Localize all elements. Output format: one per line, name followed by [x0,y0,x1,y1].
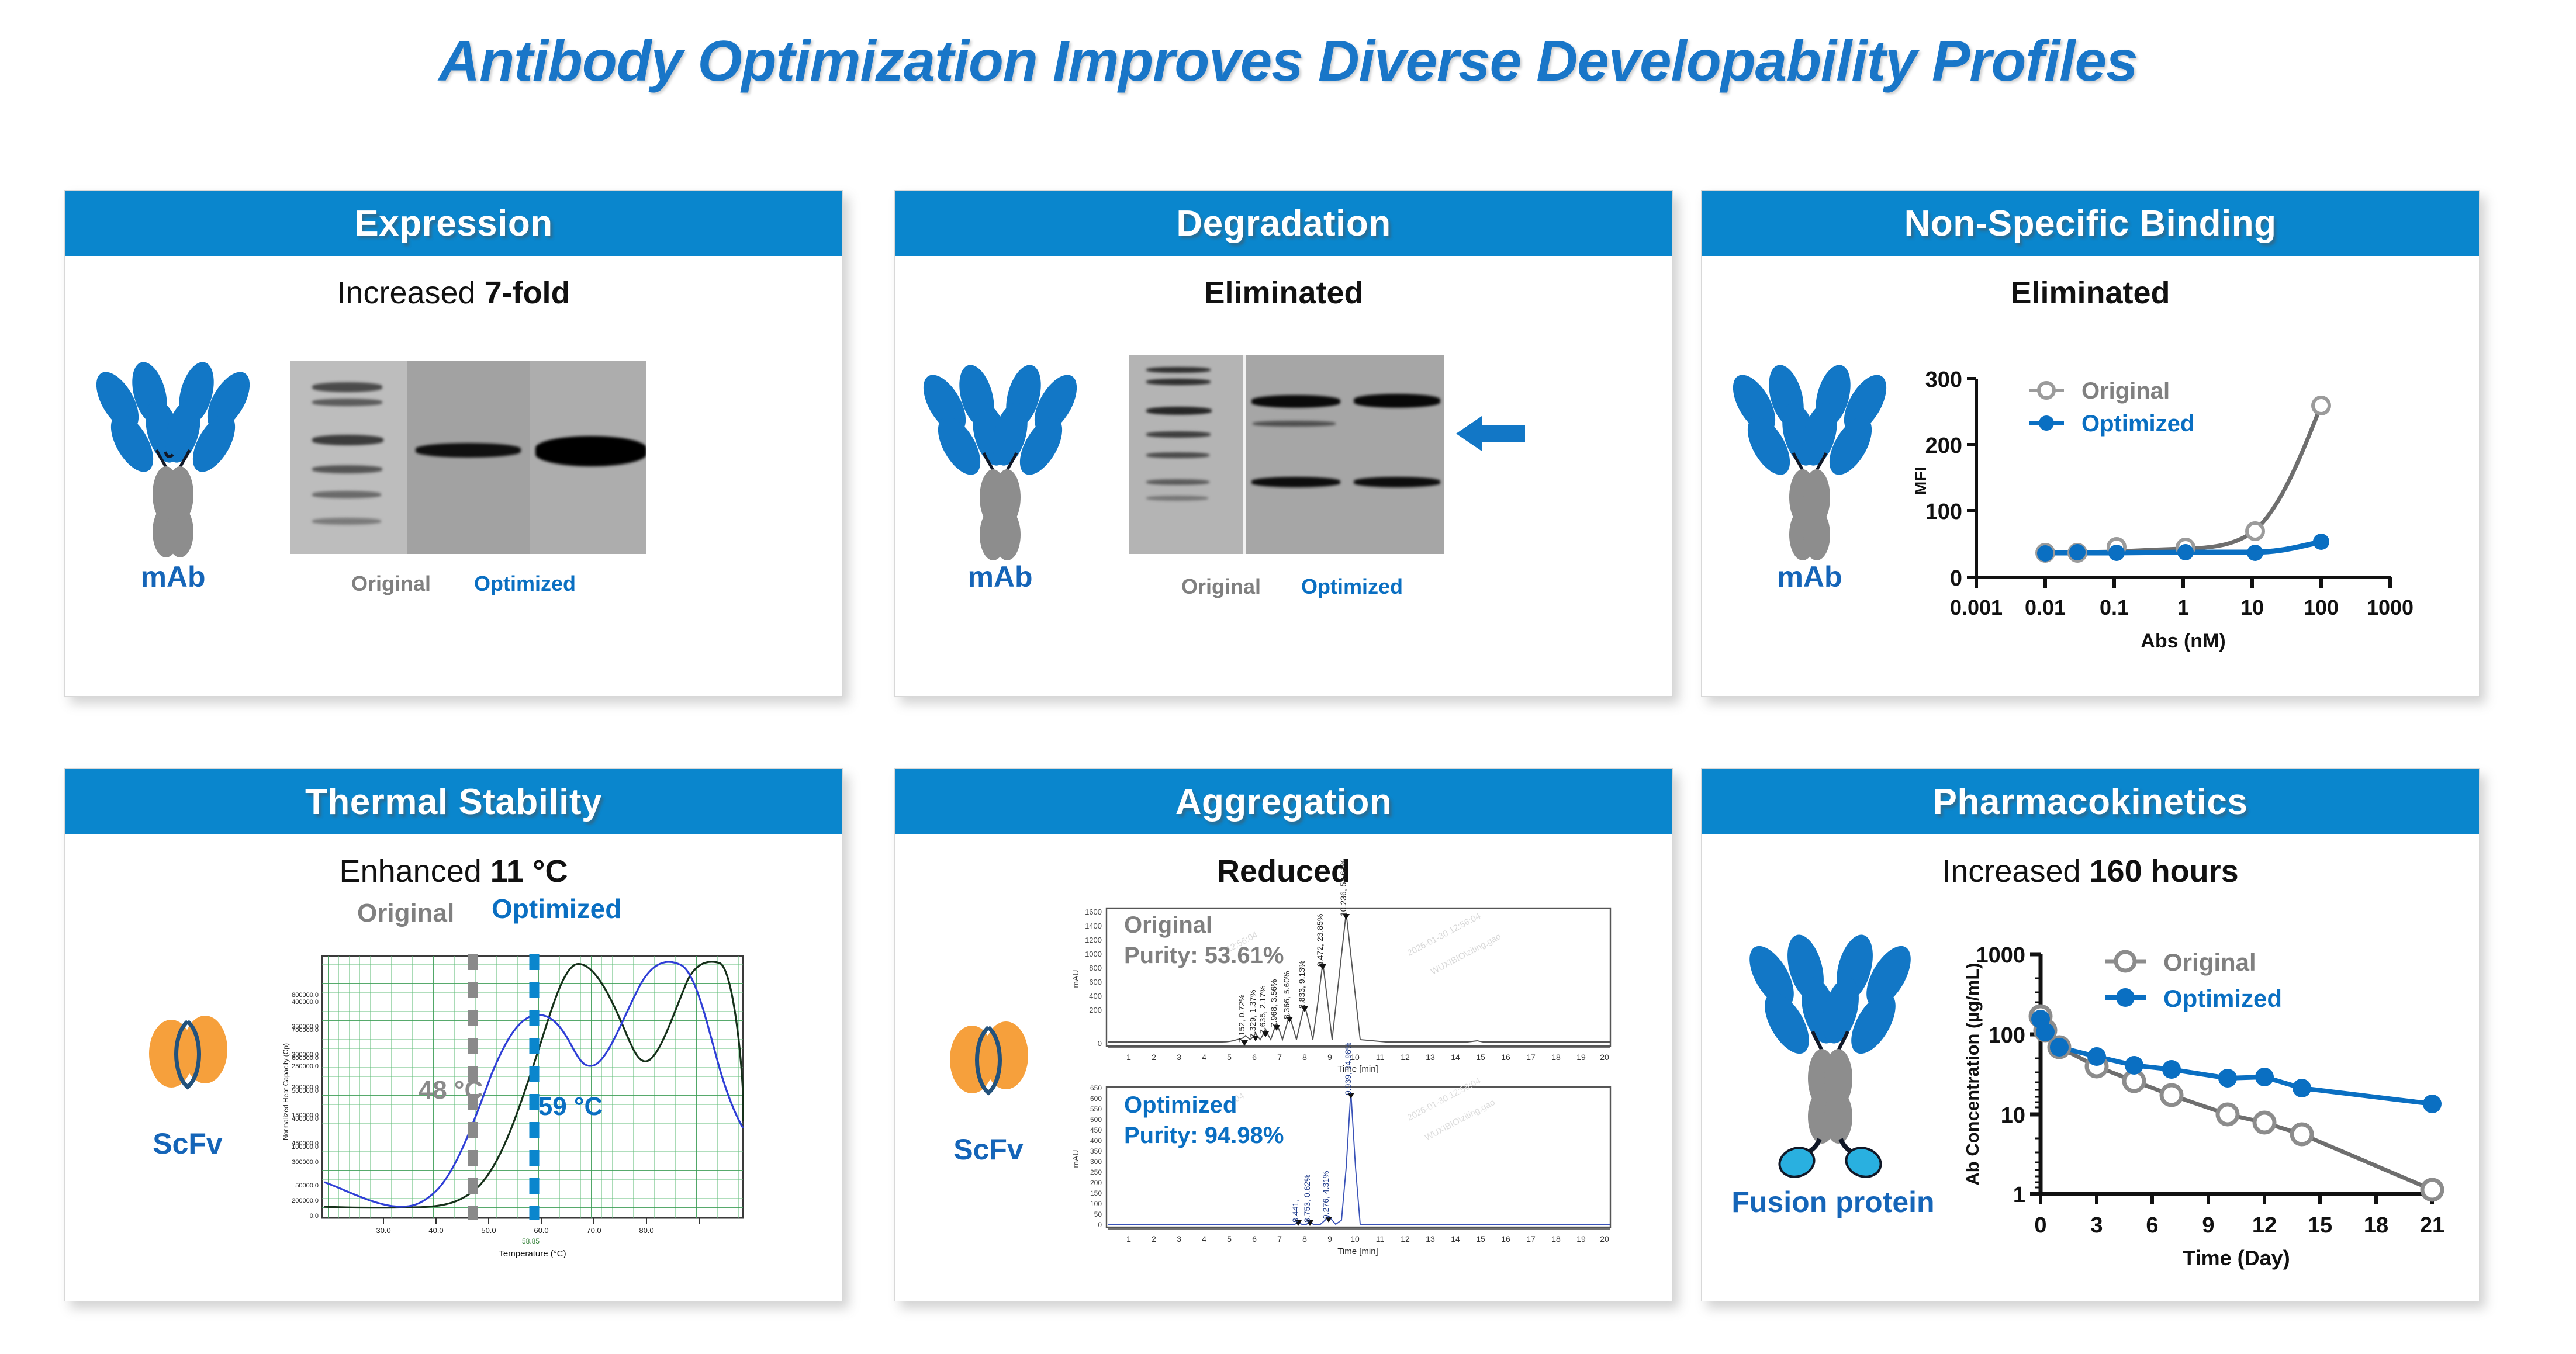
panel-thermal-stability[interactable]: Thermal Stability Enhanced 11 °C ScFv Or… [64,768,843,1301]
svg-text:300000.0: 300000.0 [292,1159,319,1166]
svg-text:0: 0 [2034,1213,2046,1238]
degradation-gel-image [1129,355,1444,554]
svg-text:150000.0: 150000.0 [292,1112,319,1119]
svg-text:0: 0 [1950,566,1962,591]
svg-text:9.939, 94.98%: 9.939, 94.98% [1343,1043,1353,1095]
panel-header-label: Expression [354,203,552,244]
svg-text:650: 650 [1090,1084,1102,1092]
svg-text:Optimized: Optimized [2163,985,2282,1012]
panel-expression[interactable]: Expression Increased 7-fold [64,190,843,697]
svg-text:12: 12 [1401,1052,1410,1062]
svg-text:50.0: 50.0 [481,1226,496,1235]
fusion-protein-icon [1731,931,1930,1182]
svg-text:400000.0: 400000.0 [292,999,319,1006]
chart-legend: Original Optimized [2105,948,2282,1012]
svg-text:100: 100 [2304,595,2339,619]
subtitle-value: Eliminated [2010,275,2170,310]
svg-text:6: 6 [1252,1234,1257,1244]
svg-text:100: 100 [1090,1200,1102,1208]
svg-text:350000.0: 350000.0 [292,1023,319,1030]
svg-text:Temperature (°C): Temperature (°C) [499,1249,566,1259]
svg-text:200: 200 [1090,1179,1102,1187]
svg-text:100: 100 [1989,1023,2025,1048]
svg-text:200000.0: 200000.0 [292,1197,319,1204]
svg-text:1400: 1400 [1085,922,1102,930]
lane-label-optimized: Optimized [1301,574,1403,599]
panel-body: Eliminated [1702,256,2479,696]
svg-text:13: 13 [1426,1052,1435,1062]
svg-text:40.0: 40.0 [428,1226,443,1235]
svg-text:500: 500 [1090,1116,1102,1124]
svg-text:7.152, 0.72%: 7.152, 0.72% [1237,994,1246,1043]
svg-text:12: 12 [1401,1234,1410,1244]
sec-original-title: Original [1124,912,1212,938]
svg-text:8.833, 9.13%: 8.833, 9.13% [1297,960,1306,1009]
panel-subtitle: Eliminated [1702,275,2479,311]
svg-text:3: 3 [1177,1234,1181,1244]
panel-aggregation[interactable]: Aggregation Reduced ScFv 16001400 120010… [894,768,1673,1301]
svg-text:0: 0 [1098,1221,1102,1229]
svg-text:10.236, 53.61%: 10.236, 53.61% [1339,859,1348,916]
svg-text:13: 13 [1426,1234,1435,1244]
svg-text:16: 16 [1501,1052,1510,1062]
svg-text:250000.0: 250000.0 [292,1063,319,1070]
svg-text:1: 1 [1126,1052,1131,1062]
panel-non-specific-binding[interactable]: Non-Specific Binding Eliminated [1701,190,2480,697]
svg-text:1600: 1600 [1085,908,1102,916]
poster-page: Antibody Optimization Improves Diverse D… [0,0,2576,1354]
svg-text:Ab Concentration (µg/mL): Ab Concentration (µg/mL) [1962,962,1983,1185]
svg-text:19: 19 [1576,1234,1586,1244]
svg-text:3: 3 [1177,1052,1181,1062]
panel-header: Aggregation [895,769,1672,834]
svg-text:50: 50 [1094,1210,1102,1218]
svg-text:10: 10 [2240,595,2264,619]
svg-text:3: 3 [2090,1213,2103,1238]
svg-text:1: 1 [1126,1234,1131,1244]
svg-text:0.0: 0.0 [310,1213,319,1220]
marker-label-optimized: Optimized [492,893,621,924]
panel-body: Eliminated [895,256,1672,696]
svg-text:7.635, 2.17%: 7.635, 2.17% [1258,985,1267,1034]
svg-text:Time [min]: Time [min] [1337,1246,1378,1256]
svg-text:0.01: 0.01 [2025,595,2066,619]
svg-text:0: 0 [1098,1039,1102,1048]
panel-header-label: Non-Specific Binding [1904,203,2277,244]
svg-text:18: 18 [1551,1234,1561,1244]
svg-text:5: 5 [1227,1052,1232,1062]
molecule-label-fusion-protein: Fusion protein [1707,1185,1959,1219]
sec-original-chart: 16001400 12001000 800600 400200 0 mAU 12… [1059,900,1620,1075]
panel-body: Reduced ScFv 16001400 12001000 800600 40… [895,834,1672,1301]
panel-subtitle: Increased 7-fold [65,275,842,311]
antibody-icon [85,361,261,554]
svg-text:Abs (nM): Abs (nM) [2141,630,2225,652]
svg-text:10: 10 [2001,1103,2025,1128]
svg-text:mAU: mAU [1071,969,1080,988]
sec-original-subtitle: Purity: 53.61% [1124,943,1284,968]
panel-header: Pharmacokinetics [1702,769,2479,834]
panel-subtitle: Enhanced 11 °C [65,853,842,889]
panel-body: Increased 7-fold [65,256,842,696]
svg-text:30.0: 30.0 [376,1226,390,1235]
subtitle-value: 11 °C [490,854,568,889]
svg-text:800000.0: 800000.0 [292,992,319,999]
marker-label-original: Original [357,899,454,928]
svg-text:18: 18 [2364,1213,2388,1238]
svg-text:600: 600 [1089,978,1102,986]
panel-header: Degradation [895,191,1672,256]
svg-text:150: 150 [1090,1189,1102,1197]
svg-text:4: 4 [1202,1234,1206,1244]
svg-text:17: 17 [1526,1052,1536,1062]
svg-text:600: 600 [1090,1095,1102,1103]
lane-label-optimized: Optimized [474,572,576,596]
svg-text:200: 200 [1089,1006,1102,1014]
svg-text:2: 2 [1152,1234,1156,1244]
svg-text:11: 11 [1376,1234,1385,1244]
dsc-thermogram: 0.0 200000.0 50000.0 300000.0 100000.0 4… [275,946,766,1273]
svg-text:Original: Original [2163,948,2256,976]
subtitle-value: Eliminated [1204,275,1363,310]
svg-text:16: 16 [1501,1234,1510,1244]
svg-text:100: 100 [1925,500,1962,524]
sec-optimized-subtitle: Purity: 94.98% [1124,1123,1284,1148]
svg-text:1: 1 [2177,595,2189,619]
svg-text:9: 9 [2202,1213,2214,1238]
svg-text:14: 14 [1451,1234,1460,1244]
svg-text:8.366, 5.60%: 8.366, 5.60% [1282,971,1291,1019]
sec-optimized-chart: 650600550 500450400 350300250 200150100 … [1059,1080,1620,1261]
subtitle-prefix: Enhanced [340,854,490,889]
svg-text:200000.0: 200000.0 [292,1084,319,1091]
antibody-icon [1722,364,1897,557]
svg-text:800: 800 [1089,964,1102,972]
dsc-tick-annotation: 58.85 [522,1237,540,1245]
svg-text:9.276, 4.31%: 9.276, 4.31% [1321,1171,1330,1219]
svg-text:350: 350 [1090,1147,1102,1155]
svg-text:300000.0: 300000.0 [292,1051,319,1058]
panel-body: Enhanced 11 °C ScFv Original Optimized [65,834,842,1301]
molecule-label-mab: mAb [1722,560,1897,594]
lane-label-original: Original [1181,574,1261,599]
subtitle-value: Reduced [1217,854,1350,889]
svg-text:20: 20 [1600,1234,1609,1244]
svg-text:0.001: 0.001 [1950,595,2003,619]
subtitle-value: 7-fold [485,275,570,310]
svg-text:20: 20 [1600,1052,1609,1062]
svg-text:400: 400 [1090,1137,1102,1145]
svg-text:7: 7 [1277,1052,1282,1062]
svg-text:8: 8 [1302,1234,1307,1244]
svg-text:8: 8 [1302,1052,1307,1062]
svg-text:300: 300 [1925,368,1962,392]
svg-text:300: 300 [1090,1158,1102,1166]
svg-text:250: 250 [1090,1168,1102,1176]
svg-text:7.968, 3.56%: 7.968, 3.56% [1269,979,1278,1027]
left-arrow-icon [1456,413,1526,455]
svg-text:1: 1 [2013,1183,2025,1207]
svg-text:11: 11 [1376,1052,1385,1062]
panel-grid: Expression Increased 7-fold [0,0,2576,1354]
panel-header-label: Pharmacokinetics [1933,781,2248,823]
panel-header: Expression [65,191,842,256]
scfv-icon [930,992,1047,1121]
svg-text:50000.0: 50000.0 [295,1182,319,1189]
svg-text:Normalized Heat Capacity (Cp): Normalized Heat Capacity (Cp) [282,1043,290,1140]
subtitle-prefix: Increased [337,275,484,310]
panel-header-label: Degradation [1176,203,1391,244]
svg-text:6: 6 [2146,1213,2158,1238]
svg-text:1200: 1200 [1085,936,1102,944]
molecule-label-scfv: ScFv [901,1133,1076,1166]
svg-text:12: 12 [2252,1213,2277,1238]
svg-text:80.0: 80.0 [639,1226,653,1235]
svg-text:450000.0: 450000.0 [292,1140,319,1147]
panel-subtitle: Eliminated [895,275,1672,311]
antibody-icon [912,364,1088,557]
svg-text:550: 550 [1090,1105,1102,1113]
panel-header: Thermal Stability [65,769,842,834]
svg-text:9.472, 23.85%: 9.472, 23.85% [1315,914,1325,967]
svg-text:14: 14 [1451,1052,1460,1062]
svg-text:9: 9 [1327,1052,1332,1062]
subtitle-prefix: Increased [1942,854,2089,889]
svg-text:4: 4 [1202,1052,1206,1062]
panel-body: Increased 160 hours [1702,834,2479,1301]
svg-text:Optimized: Optimized [2081,411,2194,437]
lane-label-original: Original [351,572,431,596]
chart-legend: Original Optimized [2029,378,2194,437]
svg-text:15: 15 [1476,1234,1485,1244]
panel-subtitle: Increased 160 hours [1702,853,2479,889]
svg-text:Original: Original [2081,378,2170,404]
svg-text:1000: 1000 [2367,595,2414,619]
svg-text:17: 17 [1526,1234,1536,1244]
nsb-chart: 300 200 100 0 MFI [1906,355,2432,659]
svg-text:7.329, 1.37%: 7.329, 1.37% [1248,989,1257,1038]
panel-header-label: Aggregation [1175,781,1392,823]
panel-subtitle: Reduced [895,853,1672,889]
molecule-label-scfv: ScFv [100,1127,275,1161]
svg-text:18: 18 [1551,1052,1561,1062]
panel-header: Non-Specific Binding [1702,191,2479,256]
svg-text:1000: 1000 [1085,950,1102,958]
sec-optimized-title: Optimized [1124,1092,1237,1118]
marker-value-optimized: 59 °C [538,1092,603,1121]
svg-text:15: 15 [1476,1052,1485,1062]
molecule-label-mab: mAb [85,560,261,594]
svg-text:400: 400 [1089,992,1102,1000]
svg-text:1000: 1000 [1976,943,2025,968]
svg-text:10: 10 [1350,1234,1360,1244]
svg-text:450: 450 [1090,1126,1102,1134]
svg-text:200: 200 [1925,434,1962,458]
svg-text:9: 9 [1327,1234,1332,1244]
svg-text:19: 19 [1576,1052,1586,1062]
molecule-label-mab: mAb [912,560,1088,594]
svg-text:15: 15 [2308,1213,2332,1238]
svg-text:70.0: 70.0 [586,1226,601,1235]
marker-value-original: 48 °C [419,1076,483,1104]
scfv-icon [129,986,246,1115]
panel-degradation[interactable]: Degradation Eliminated [894,190,1673,697]
pk-chart: 1000 100 10 1 Ab Concentration (µg/mL) [1953,937,2467,1276]
panel-header-label: Thermal Stability [305,781,602,823]
svg-text:5: 5 [1227,1234,1232,1244]
svg-text:6: 6 [1252,1052,1257,1062]
svg-text:21: 21 [2420,1213,2444,1238]
svg-text:Time (Day): Time (Day) [2183,1246,2290,1270]
svg-text:7: 7 [1277,1234,1282,1244]
panel-pharmacokinetics[interactable]: Pharmacokinetics Increased 160 hours [1701,768,2480,1301]
expression-gel-image [290,361,646,554]
svg-text:0.1: 0.1 [2100,595,2129,619]
svg-text:60.0: 60.0 [534,1226,548,1235]
svg-text:mAU: mAU [1071,1149,1080,1168]
svg-text:2: 2 [1152,1052,1156,1062]
svg-text:8.753, 0.62%: 8.753, 0.62% [1302,1174,1312,1223]
svg-text:8.441,: 8.441, [1291,1200,1300,1223]
subtitle-value: 160 hours [2090,854,2239,889]
svg-text:MFI: MFI [1911,467,1930,495]
